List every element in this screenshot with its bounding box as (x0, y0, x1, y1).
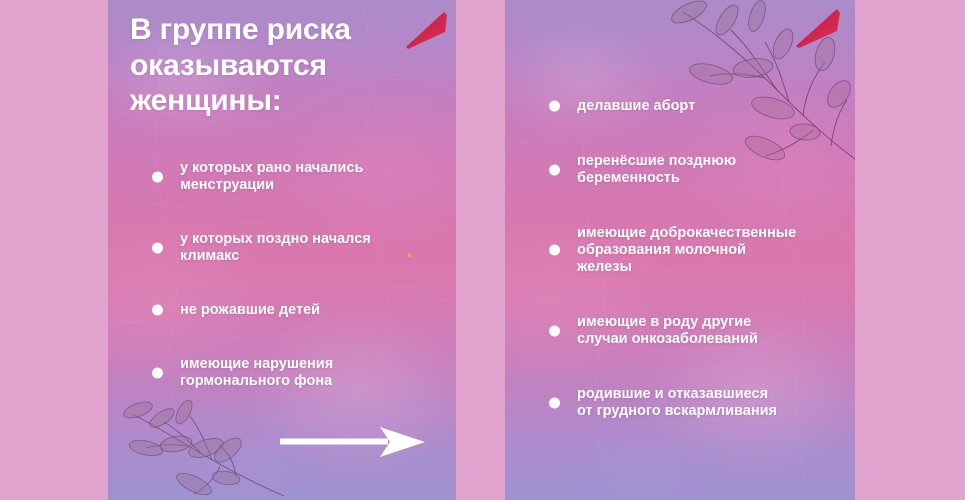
list-item: у которых рано начались менструации (130, 160, 442, 194)
page-title: В группе риска оказываются женщины: (130, 12, 430, 119)
list-item-label: делавшие аборт (577, 98, 845, 115)
bullet-dot-icon (152, 305, 163, 316)
list-item-label: имеющие нарушения гормонального фона (180, 356, 442, 390)
list-item-label: у которых поздно начался климакс (180, 231, 442, 265)
left-panel-content: В группе риска оказываются женщины: у ко… (108, 0, 456, 500)
bullet-dot-icon (549, 164, 560, 175)
list-item: родившие и отказавшиеся от грудного вска… (527, 386, 845, 420)
list-item-label: имеющие доброкачественные образования мо… (577, 225, 845, 276)
list-item: имеющие доброкачественные образования мо… (527, 225, 845, 276)
list-item-label: у которых рано начались менструации (180, 160, 442, 194)
bullet-dot-icon (549, 245, 560, 256)
list-item-label: имеющие в роду другие случаи онкозаболев… (577, 314, 845, 348)
bullet-dot-icon (549, 325, 560, 336)
list-item: имеющие в роду другие случаи онкозаболев… (527, 314, 845, 348)
arrow-right-icon[interactable] (280, 425, 425, 459)
risk-factor-list-left: у которых рано начались менструации у ко… (130, 160, 442, 427)
risk-group-panel-left: В группе риска оказываются женщины: у ко… (108, 0, 456, 500)
list-item: делавшие аборт (527, 98, 845, 115)
bullet-dot-icon (152, 171, 163, 182)
risk-factor-list-right: делавшие аборт перенёсшие позднюю береме… (527, 98, 845, 458)
right-panel-content: делавшие аборт перенёсшие позднюю береме… (505, 0, 855, 500)
list-item-label: родившие и отказавшиеся от грудного вска… (577, 386, 845, 420)
list-item-label: перенёсшие позднюю беременность (577, 153, 845, 187)
list-item-label: не рожавшие детей (180, 302, 442, 319)
risk-group-panel-right: делавшие аборт перенёсшие позднюю береме… (505, 0, 855, 500)
list-item: не рожавшие детей (130, 302, 442, 319)
list-item: имеющие нарушения гормонального фона (130, 356, 442, 390)
bullet-dot-icon (549, 101, 560, 112)
list-item: перенёсшие позднюю беременность (527, 153, 845, 187)
bullet-dot-icon (549, 397, 560, 408)
bullet-dot-icon (152, 242, 163, 253)
infographic-canvas: В группе риска оказываются женщины: у ко… (0, 0, 965, 500)
list-item: у которых поздно начался климакс (130, 231, 442, 265)
texture-speck (408, 253, 411, 257)
bullet-dot-icon (152, 367, 163, 378)
